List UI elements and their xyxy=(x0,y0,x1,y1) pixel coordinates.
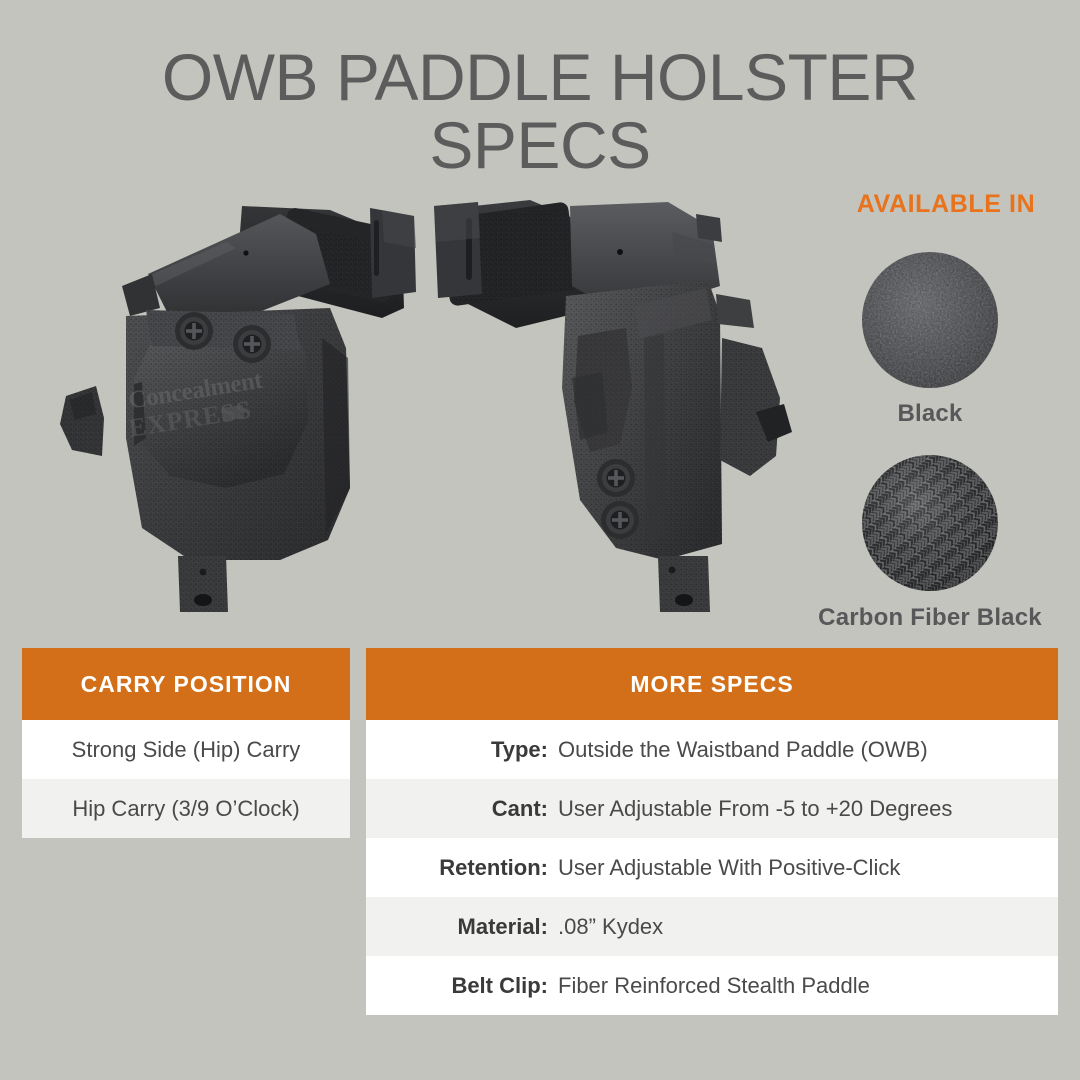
table-row: Strong Side (Hip) Carry xyxy=(22,720,350,779)
spec-label: Type: xyxy=(390,737,558,763)
spec-label: Retention: xyxy=(390,855,558,881)
page-title-line1: OWB PADDLE HOLSTER xyxy=(162,40,918,114)
spec-label: Belt Clip: xyxy=(390,973,558,999)
carry-position-value: Hip Carry (3/9 O’Clock) xyxy=(72,796,299,822)
carbon-fiber-swatch-circle[interactable] xyxy=(862,455,998,591)
table-row: Belt Clip: Fiber Reinforced Stealth Padd… xyxy=(366,956,1058,1015)
spec-value: Outside the Waistband Paddle (OWB) xyxy=(558,737,928,763)
spec-value: User Adjustable From -5 to +20 Degrees xyxy=(558,796,952,822)
product-image-stage: Concealment EXPRESS xyxy=(0,180,800,630)
available-in-heading: AVAILABLE IN xyxy=(812,190,1080,219)
carry-position-table: CARRY POSITION Strong Side (Hip) Carry H… xyxy=(22,648,350,838)
carry-position-value: Strong Side (Hip) Carry xyxy=(72,737,301,763)
holster-rear-view-image: Concealment EXPRESS xyxy=(30,188,430,618)
table-row: Cant: User Adjustable From -5 to +20 Deg… xyxy=(366,779,1058,838)
swatch-label-carbon-fiber-black: Carbon Fiber Black xyxy=(780,604,1080,632)
more-specs-table-header: MORE SPECS xyxy=(366,648,1058,720)
swatch-item-carbon-fiber-black[interactable]: Carbon Fiber Black xyxy=(780,455,1080,632)
available-colors-panel: AVAILABLE IN xyxy=(780,190,1080,632)
table-row: Type: Outside the Waistband Paddle (OWB) xyxy=(366,720,1058,779)
more-specs-table: MORE SPECS Type: Outside the Waistband P… xyxy=(366,648,1058,1015)
page-title-line2: SPECS xyxy=(0,112,1080,180)
black-swatch-circle[interactable] xyxy=(862,252,998,388)
table-row: Retention: User Adjustable With Positive… xyxy=(366,838,1058,897)
table-row: Hip Carry (3/9 O’Clock) xyxy=(22,779,350,838)
spec-label: Material: xyxy=(390,914,558,940)
page-title: OWB PADDLE HOLSTER SPECS xyxy=(0,44,1080,180)
swatch-label-black: Black xyxy=(780,400,1080,428)
spec-value: .08” Kydex xyxy=(558,914,663,940)
swatch-item-black[interactable]: Black xyxy=(780,252,1080,428)
spec-label: Cant: xyxy=(390,796,558,822)
holster-front-view-image xyxy=(420,188,820,618)
spec-value: User Adjustable With Positive-Click xyxy=(558,855,900,881)
table-row: Material: .08” Kydex xyxy=(366,897,1058,956)
carry-position-table-header: CARRY POSITION xyxy=(22,648,350,720)
spec-value: Fiber Reinforced Stealth Paddle xyxy=(558,973,870,999)
